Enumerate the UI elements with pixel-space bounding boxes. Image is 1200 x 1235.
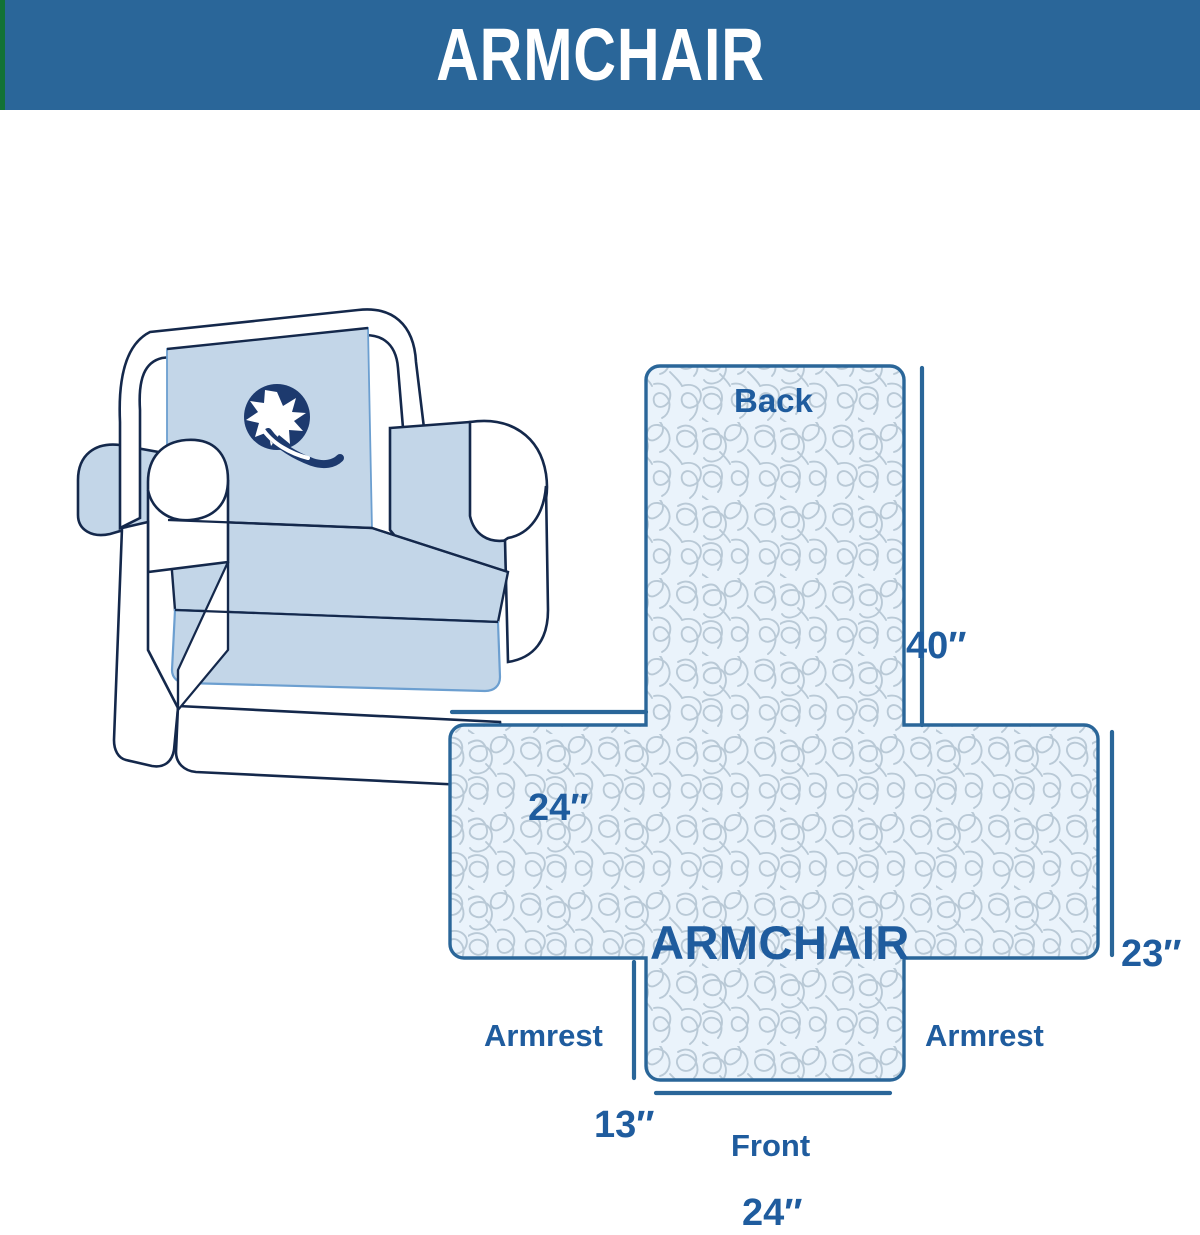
dimension-label-front-height: 13″ xyxy=(594,1104,654,1147)
dimension-label-back-height: 40″ xyxy=(906,625,966,668)
diagram-stage: Back ARMCHAIR Armrest Armrest Front 40″ … xyxy=(0,110,1200,1200)
panel-label-front: Front xyxy=(731,1128,810,1164)
header-banner: ARMCHAIR xyxy=(0,0,1200,110)
panel-label-back: Back xyxy=(734,382,813,420)
cover-outline xyxy=(450,366,1098,1080)
dimension-label-front-width: 24″ xyxy=(742,1192,802,1235)
cover-cross-diagram xyxy=(450,366,1098,1080)
dimension-label-back-width: 24″ xyxy=(528,787,588,830)
panel-label-armrest-left: Armrest xyxy=(484,1018,603,1054)
panel-label-armrest-right: Armrest xyxy=(925,1018,1044,1054)
dimension-label-center-height: 23″ xyxy=(1121,933,1181,976)
header-accent-stripe xyxy=(0,0,5,110)
panel-label-center: ARMCHAIR xyxy=(650,915,910,970)
armchair-illustration xyxy=(78,309,548,786)
page-title: ARMCHAIR xyxy=(436,18,765,92)
